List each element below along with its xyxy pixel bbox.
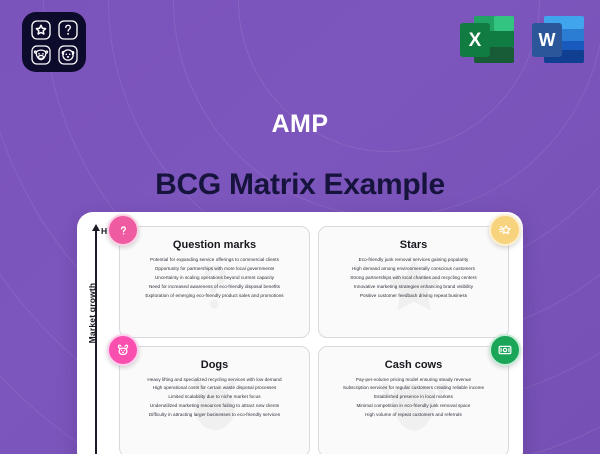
logo-star-icon [28,18,53,41]
quadrant-item-list: Pay-per-volume pricing model ensuring st… [327,376,500,421]
list-item: Minimal competition in eco-friendly junk… [327,402,500,411]
banknote-icon[interactable] [489,334,521,366]
list-item: Opportunity for partnerships with more l… [128,265,301,274]
list-item: High operational costs for certain waste… [128,384,301,393]
quadrant-title: Cash cows [327,359,500,371]
quadrant-grid: Question marks Potential for expanding s… [119,226,509,454]
list-item: Underutilized marketing resources failin… [128,402,301,411]
dog-icon[interactable] [107,334,139,366]
star-icon[interactable] [489,214,521,246]
list-item: Innovative marketing strategies enhancin… [327,283,500,292]
quadrant-stars[interactable]: Stars Eco-friendly junk removal services… [318,226,509,338]
slide-canvas: X W AMP BCG Matrix Example High Market g… [0,0,600,454]
excel-icon[interactable]: X [460,14,516,71]
quadrant-item-list: Eco-friendly junk removal services gaini… [327,256,500,301]
list-item: Need for increased awareness of eco-frie… [128,283,301,292]
list-item: Exploration of emerging eco-friendly pro… [128,292,301,301]
quadrant-title: Stars [327,239,500,251]
y-axis-title: Market growth [87,278,97,348]
list-item: Pay-per-volume pricing model ensuring st… [327,376,500,385]
page-title: BCG Matrix Example [0,168,600,202]
list-item: Limited scalability due to niche market … [128,393,301,402]
bcg-matrix-logo-icon[interactable] [22,12,86,72]
bcg-matrix-card: High Market growth Question marks Potent… [77,212,523,454]
list-item: Positive customer feedback driving repea… [327,292,500,301]
list-item: Uncertainty in scaling operations beyond… [128,274,301,283]
list-item: High demand among environmentally consci… [327,265,500,274]
list-item: Difficulty in attracting larger business… [128,411,301,420]
quadrant-title: Question marks [128,239,301,251]
word-icon-letter: W [539,30,556,50]
excel-icon-letter: X [469,30,482,51]
quadrant-cash-cows[interactable]: Cash cows Pay-per-volume pricing model e… [318,346,509,454]
list-item: Established presence in local markets [327,393,500,402]
quadrant-question-marks[interactable]: Question marks Potential for expanding s… [119,226,310,338]
logo-cow-icon [28,43,53,66]
quadrant-item-list: Potential for expanding service offering… [128,256,301,301]
quadrant-item-list: Heavy lifting and specialized recycling … [128,376,301,421]
list-item: Strong partnerships with local charities… [327,274,500,283]
quadrant-title: Dogs [128,359,301,371]
logo-dog-icon [55,43,80,66]
list-item: High volume of repeat customers and refe… [327,411,500,420]
list-item: Potential for expanding service offering… [128,256,301,265]
logo-question-mark-icon [55,18,80,41]
list-item: Eco-friendly junk removal services gaini… [327,256,500,265]
brand-name: AMP [0,110,600,139]
list-item: Heavy lifting and specialized recycling … [128,376,301,385]
list-item: Subscription services for regular custom… [327,384,500,393]
quadrant-dogs[interactable]: Dogs Heavy lifting and specialized recyc… [119,346,310,454]
question-mark-icon[interactable] [107,214,139,246]
word-icon[interactable]: W [532,14,586,71]
